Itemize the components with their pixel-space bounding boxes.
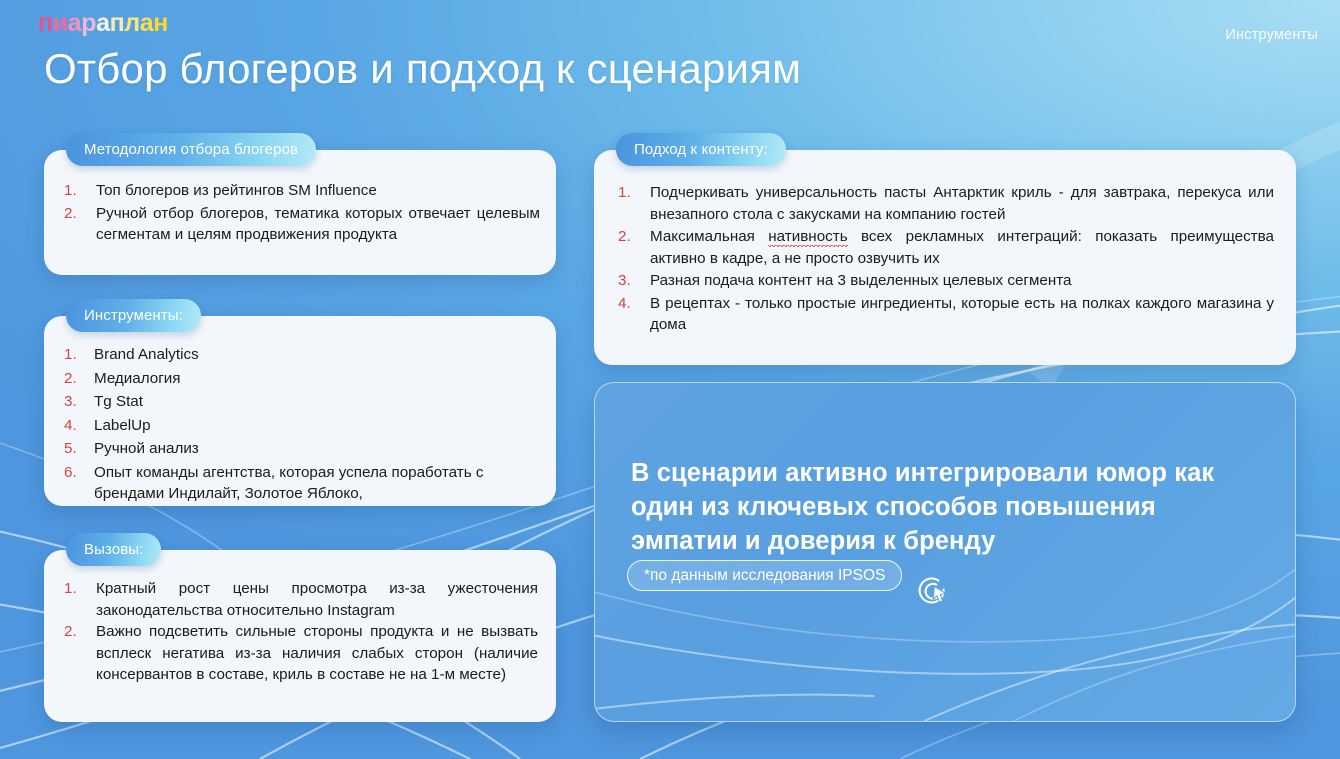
card-methodology-pill: Методология отбора блогеров (66, 133, 316, 166)
card-tools-pill: Инструменты: (66, 299, 201, 332)
list-number: 4. (618, 293, 631, 315)
tools-list: 1. Brand Analytics 2. Медиалогия 3. Tg S… (56, 344, 538, 505)
list-text: Ручной анализ (94, 440, 199, 457)
list-text: В рецептах - только простые ингредиенты,… (650, 295, 1274, 334)
list-item: 2. Ручной отбор блогеров, тематика котор… (56, 203, 540, 246)
list-number: 1. (64, 344, 77, 366)
click-cursor-icon (917, 575, 951, 609)
list-item: 3. Разная подача контент на 3 выделенных… (606, 270, 1274, 292)
card-content-approach-pill: Подход к контенту: (616, 133, 786, 166)
card-content-approach-body: 1. Подчеркивать универсальность пасты Ан… (594, 150, 1296, 349)
logo-letter-7: а (140, 9, 154, 37)
list-number: 1. (64, 578, 77, 600)
spellcheck-flagged-word: нативность (768, 228, 847, 247)
card-challenges: Вызовы: 1. Кратный рост цены просмотра и… (44, 550, 556, 722)
logo-letter-8: н (153, 9, 168, 37)
list-number: 2. (64, 368, 77, 390)
list-item: 2. Максимальная нативность всех рекламны… (606, 226, 1274, 269)
list-item: 1. Brand Analytics (56, 344, 538, 366)
list-text: Подчеркивать универсальность пасты Антар… (650, 184, 1274, 223)
list-number: 4. (64, 415, 77, 437)
logo-letter-3: р (81, 9, 96, 37)
logo-letter-5: п (110, 9, 125, 37)
list-text: Максимальная (650, 228, 768, 245)
list-text: Кратный рост цены просмотра из-за ужесто… (96, 580, 538, 619)
brand-logo: пиараплан (38, 11, 168, 36)
list-item: 3. Tg Stat (56, 391, 538, 413)
list-number: 5. (64, 438, 77, 460)
list-text: Медиалогия (94, 370, 180, 387)
list-text: Опыт команды агентства, которая успела п… (94, 464, 483, 503)
list-number: 6. (64, 462, 77, 484)
logo-letter-6: л (124, 9, 139, 37)
list-item: 1. Топ блогеров из рейтингов SM Influenc… (56, 180, 540, 202)
ipsos-footnote-badge: *по данным исследования IPSOS (627, 560, 902, 591)
card-tools: Инструменты: 1. Brand Analytics 2. Медиа… (44, 316, 556, 506)
list-item: 2. Медиалогия (56, 368, 538, 390)
logo-letter-2: а (68, 9, 82, 37)
methodology-list: 1. Топ блогеров из рейтингов SM Influenc… (56, 180, 540, 246)
highlight-statement-text: В сценарии активно интегрировали юмор ка… (631, 457, 1255, 559)
card-methodology: Методология отбора блогеров 1. Топ блоге… (44, 150, 556, 275)
list-number: 3. (64, 391, 77, 413)
content-approach-list: 1. Подчеркивать универсальность пасты Ан… (606, 182, 1274, 336)
list-item: 1. Кратный рост цены просмотра из-за уже… (56, 578, 538, 621)
card-tools-body: 1. Brand Analytics 2. Медиалогия 3. Tg S… (44, 316, 556, 517)
list-text: Важно подсветить сильные стороны продукт… (96, 623, 538, 683)
list-item: 6. Опыт команды агентства, которая успел… (56, 462, 538, 505)
logo-letter-0: п (38, 9, 53, 37)
list-number: 2. (618, 226, 631, 248)
list-item: 2. Важно подсветить сильные стороны прод… (56, 621, 538, 686)
list-number: 3. (618, 270, 631, 292)
card-methodology-body: 1. Топ блогеров из рейтингов SM Influenc… (44, 150, 556, 257)
card-challenges-pill: Вызовы: (66, 533, 161, 566)
card-highlight-statement: В сценарии активно интегрировали юмор ка… (594, 382, 1296, 722)
logo-letter-4: а (96, 9, 110, 37)
list-text: Tg Stat (94, 393, 143, 410)
list-number: 1. (64, 180, 77, 202)
list-text: Ручной отбор блогеров, тематика которых … (96, 205, 540, 244)
list-item: 4. В рецептах - только простые ингредиен… (606, 293, 1274, 336)
header-section-label: Инструменты (1225, 27, 1318, 43)
list-text: LabelUp (94, 417, 151, 434)
list-number: 1. (618, 182, 631, 204)
list-number: 2. (64, 203, 77, 225)
logo-letter-1: и (53, 9, 68, 37)
presentation-slide: пиараплан Инструменты Отбор блогеров и п… (0, 0, 1340, 759)
card-challenges-body: 1. Кратный рост цены просмотра из-за уже… (44, 550, 556, 696)
list-text: Brand Analytics (94, 346, 199, 363)
list-text: Разная подача контент на 3 выделенных це… (650, 272, 1071, 289)
challenges-list: 1. Кратный рост цены просмотра из-за уже… (56, 578, 538, 686)
card-content-approach: Подход к контенту: 1. Подчеркивать униве… (594, 150, 1296, 365)
slide-title: Отбор блогеров и подход к сценариям (44, 45, 801, 93)
list-item: 1. Подчеркивать универсальность пасты Ан… (606, 182, 1274, 225)
list-text: Топ блогеров из рейтингов SM Influence (96, 182, 377, 199)
list-item: 4. LabelUp (56, 415, 538, 437)
list-item: 5. Ручной анализ (56, 438, 538, 460)
list-number: 2. (64, 621, 77, 643)
